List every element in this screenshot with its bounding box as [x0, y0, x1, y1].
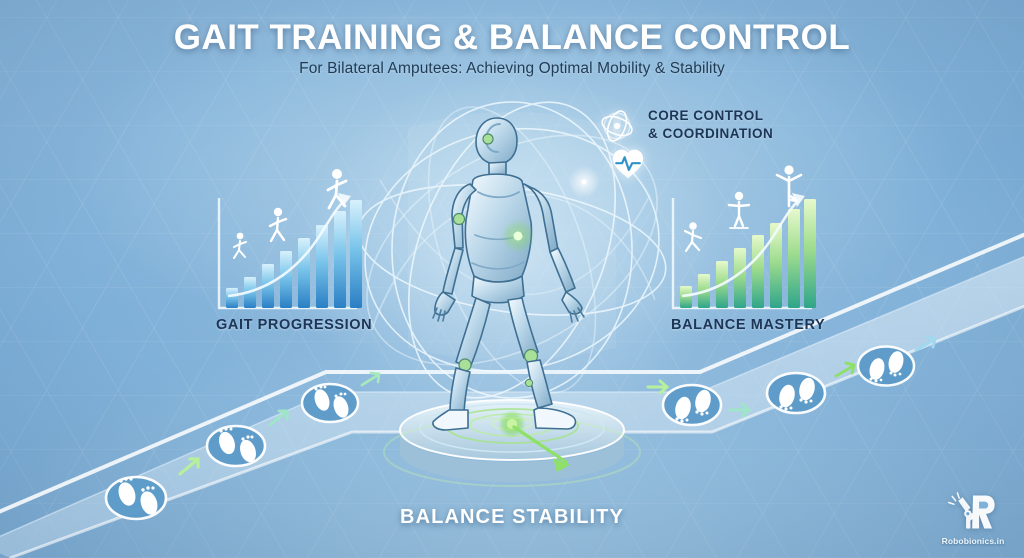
brand-logo-text: Robobionics.in — [936, 536, 1010, 546]
infographic-artwork — [0, 0, 1024, 558]
footprint-pair-badge — [663, 385, 721, 425]
core-control-block: CORE CONTROL & COORDINATION — [595, 104, 773, 148]
balance-figure-tree-pose — [777, 165, 801, 206]
gyroscope-icon — [595, 104, 639, 148]
balance-platform-disc — [384, 400, 640, 486]
balance-mastery-label: BALANCE MASTERY — [671, 317, 825, 333]
core-control-text: CORE CONTROL & COORDINATION — [648, 104, 773, 143]
footprint-pair-badge — [858, 347, 914, 386]
page-subtitle: For Bilateral Amputees: Achieving Optima… — [0, 60, 1024, 78]
walking-figure-small — [234, 233, 246, 258]
sparkle-core — [581, 179, 586, 184]
gait-progression-label: GAIT PROGRESSION — [216, 317, 372, 333]
footprint-pair-badge — [302, 384, 358, 422]
brand-logo[interactable]: Robobionics.in — [936, 490, 1010, 546]
footprint-trail-left — [106, 373, 379, 519]
core-control-line1: CORE CONTROL — [648, 107, 773, 125]
heart-pulse-icon — [611, 148, 645, 180]
footprint-pair-badge — [207, 426, 265, 466]
infographic-canvas: GAIT TRAINING & BALANCE CONTROL For Bila… — [0, 0, 1024, 558]
balance-stability-label: BALANCE STABILITY — [0, 506, 1024, 529]
footprint-pair-badge — [767, 373, 825, 413]
page-title: GAIT TRAINING & BALANCE CONTROL — [0, 18, 1024, 58]
walking-figure-medium — [270, 208, 286, 241]
core-control-line2: & COORDINATION — [648, 125, 773, 143]
balance-figure-standing — [729, 192, 749, 228]
robotic-arm-r-logo — [947, 490, 999, 534]
